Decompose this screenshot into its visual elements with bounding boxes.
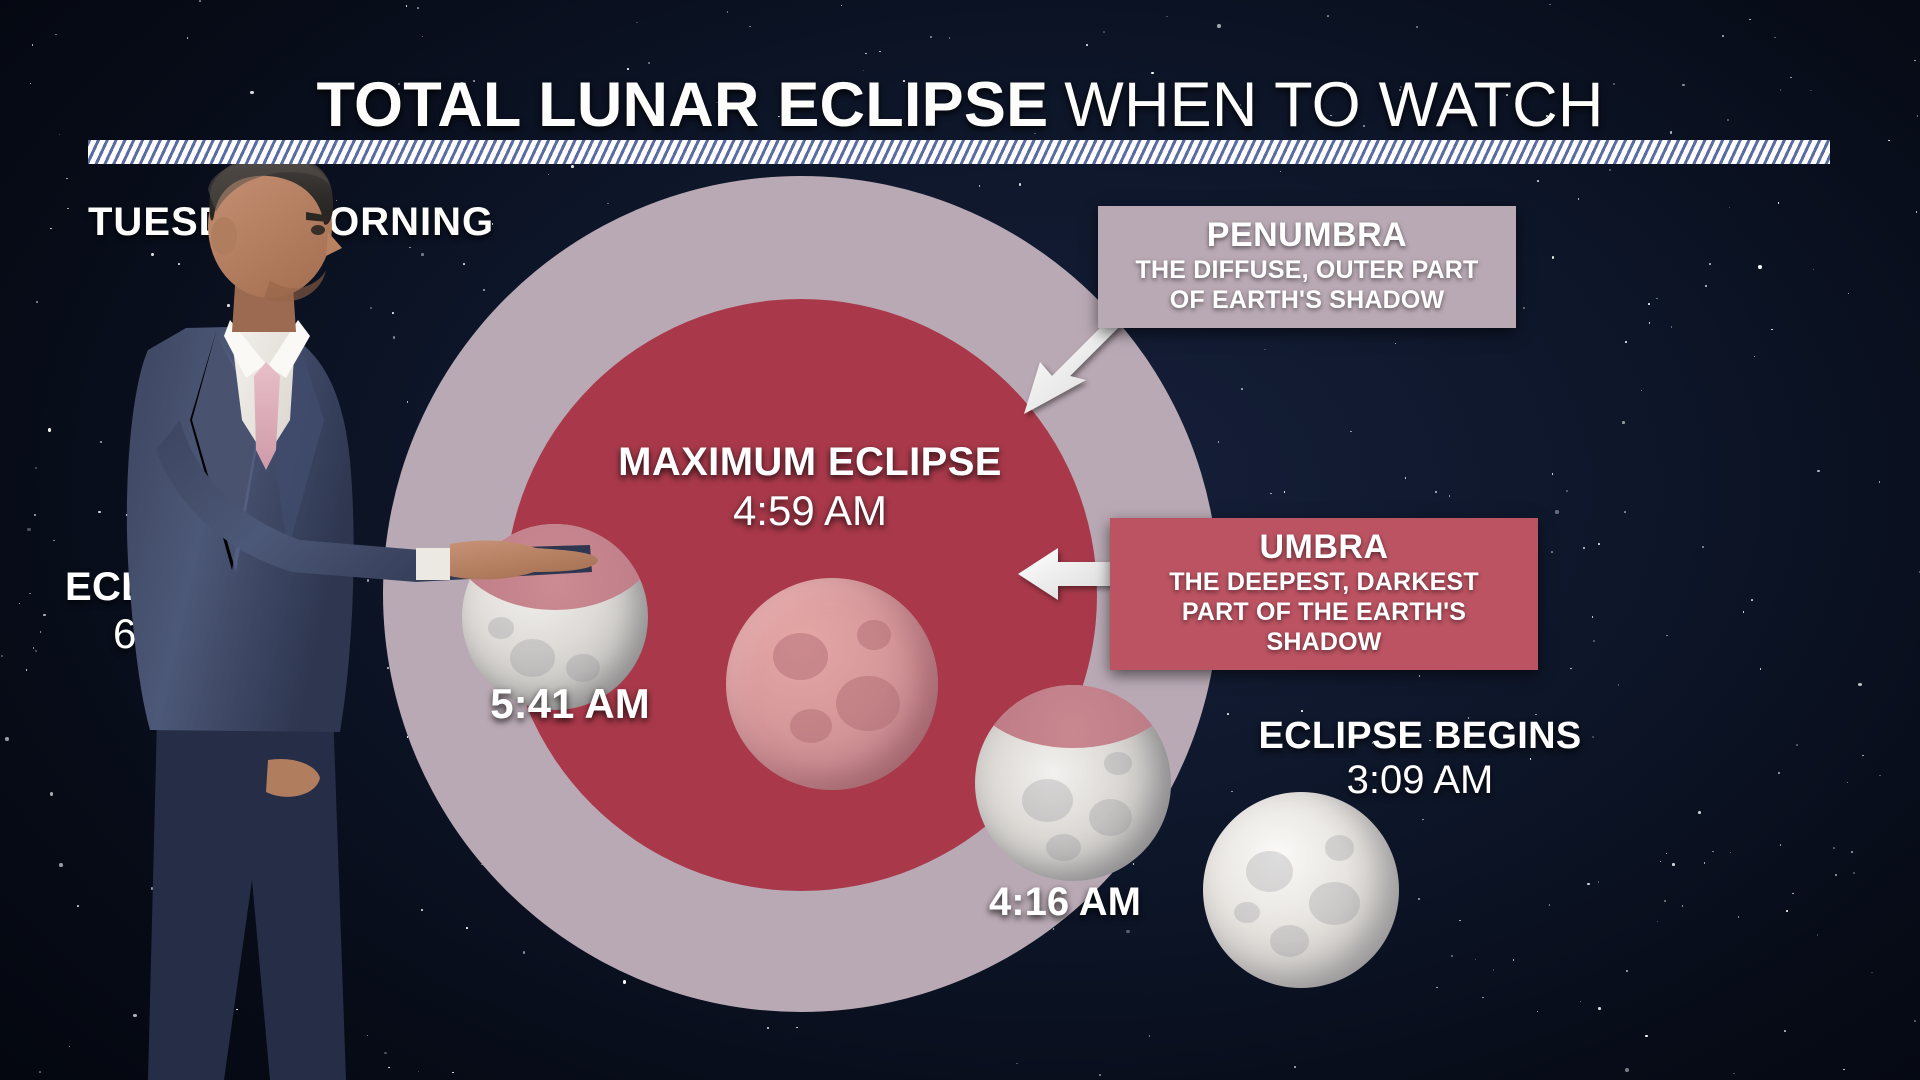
stage-416-time: 4:16 AM: [960, 880, 1170, 925]
star: [1749, 19, 1751, 21]
star: [98, 511, 101, 514]
star: [1566, 490, 1568, 492]
star: [1656, 298, 1658, 300]
star: [1016, 1063, 1018, 1065]
eclipse-begins-time: 3:09 AM: [1230, 758, 1610, 803]
moon-maximum-eclipse: [726, 578, 938, 790]
star: [1583, 547, 1585, 549]
star: [50, 228, 52, 230]
star: [1774, 37, 1776, 39]
star: [1578, 198, 1580, 200]
maximum-eclipse-text: MAXIMUM ECLIPSE: [560, 440, 1060, 485]
star: [1449, 495, 1451, 497]
star: [40, 631, 42, 633]
star: [39, 1071, 41, 1073]
star: [1103, 31, 1105, 33]
star: [1660, 861, 1662, 863]
star: [69, 1046, 71, 1048]
star: [26, 669, 28, 671]
star: [1666, 853, 1668, 855]
star: [1754, 356, 1756, 358]
title-bold-text: TOTAL LUNAR ECLIPSE: [316, 74, 1048, 137]
star: [1847, 782, 1849, 784]
star: [422, 36, 424, 38]
star: [1419, 675, 1421, 677]
star: [1848, 293, 1850, 295]
star: [1327, 15, 1329, 17]
moon-eclipse-begins: [1203, 792, 1399, 988]
star: [1395, 343, 1397, 345]
star: [199, 0, 201, 2]
star: [66, 178, 68, 180]
star: [1625, 1068, 1629, 1072]
star: [1551, 551, 1553, 553]
star: [1405, 477, 1407, 479]
star: [1729, 207, 1731, 209]
star: [48, 428, 52, 432]
star: [1549, 4, 1551, 6]
star: [1780, 844, 1782, 846]
star: [1879, 775, 1881, 777]
star: [1493, 969, 1495, 971]
star: [34, 514, 36, 516]
star: [35, 467, 37, 469]
broadcast-graphic: PENUMBRA THE DIFFUSE, OUTER PART OF EART…: [0, 0, 1920, 1080]
maximum-eclipse-label: MAXIMUM ECLIPSE 4:59 AM: [560, 440, 1060, 535]
star: [43, 614, 46, 617]
umbra-callout-box: UMBRA THE DEEPEST, DARKEST PART OF THE E…: [1110, 518, 1538, 670]
star: [1099, 1074, 1101, 1076]
star: [1751, 599, 1753, 601]
title-light-text: WHEN TO WATCH: [1064, 74, 1603, 137]
star: [59, 863, 63, 867]
star: [749, 26, 751, 28]
star: [636, 22, 638, 24]
star: [27, 528, 31, 532]
star: [1914, 60, 1916, 62]
star: [1722, 35, 1724, 37]
star: [1771, 329, 1773, 331]
star: [1733, 1073, 1735, 1075]
star: [1618, 684, 1620, 686]
star: [1436, 987, 1438, 989]
star: [77, 905, 79, 907]
star: [35, 650, 38, 653]
penumbra-desc-line1: THE DIFFUSE, OUTER PART: [1116, 256, 1498, 284]
star: [55, 34, 57, 36]
star: [1786, 910, 1788, 912]
star: [1264, 349, 1266, 351]
star: [32, 44, 34, 46]
star: [1598, 881, 1600, 883]
star: [1916, 211, 1918, 213]
star: [1622, 421, 1625, 424]
star: [1813, 269, 1815, 271]
star: [1580, 1001, 1582, 1003]
star: [1817, 934, 1819, 936]
star: [1666, 635, 1668, 637]
star: [1, 655, 3, 657]
star: [1280, 171, 1282, 173]
star: [1126, 930, 1130, 934]
star: [1709, 263, 1711, 265]
star: [1914, 1020, 1916, 1022]
star: [1778, 202, 1780, 204]
star: [1671, 326, 1673, 328]
star: [1350, 431, 1352, 433]
star: [1552, 473, 1554, 475]
star: [1086, 44, 1088, 46]
star: [796, 1027, 798, 1029]
star: [1778, 772, 1780, 774]
star: [1422, 819, 1424, 821]
star: [1294, 1066, 1296, 1068]
eclipse-begins-text: ECLIPSE BEGINS: [1230, 715, 1610, 758]
star: [1796, 744, 1798, 746]
star: [979, 185, 981, 187]
star: [1657, 921, 1659, 923]
star: [1416, 26, 1418, 28]
star: [1626, 970, 1628, 972]
star: [406, 5, 408, 7]
star: [100, 441, 102, 443]
star: [1570, 668, 1572, 670]
star: [1593, 640, 1596, 643]
star: [1241, 388, 1243, 390]
star: [1648, 303, 1650, 305]
star: [1218, 441, 1220, 443]
star: [1624, 511, 1626, 513]
star: [1537, 180, 1539, 182]
star: [1858, 683, 1862, 687]
star: [727, 11, 729, 13]
moon-stage-416: [975, 685, 1171, 881]
star: [1712, 851, 1714, 853]
star: [1513, 959, 1515, 961]
star: [29, 593, 31, 595]
star: [1833, 847, 1835, 849]
star: [648, 62, 650, 64]
star: [841, 5, 843, 7]
star: [1738, 916, 1740, 918]
star: [1217, 24, 1221, 28]
star: [19, 603, 21, 605]
umbra-heading: UMBRA: [1128, 530, 1520, 566]
star: [865, 53, 867, 55]
star: [1702, 546, 1704, 548]
star: [1664, 900, 1666, 902]
umbra-desc-line2: PART OF THE EARTH'S: [1128, 598, 1520, 626]
star: [1817, 470, 1820, 473]
star: [1792, 893, 1794, 895]
star: [1672, 863, 1675, 866]
umbra-arrow: [1012, 540, 1122, 610]
star: [1227, 713, 1229, 715]
star: [1133, 863, 1135, 865]
star: [1301, 710, 1303, 712]
star: [1552, 256, 1555, 259]
star: [1459, 920, 1461, 922]
star: [187, 37, 189, 39]
star: [1682, 905, 1684, 907]
umbra-desc-line1: THE DEEPEST, DARKEST: [1128, 568, 1520, 596]
star: [1609, 169, 1611, 171]
star: [1451, 955, 1453, 957]
umbra-desc-line3: SHADOW: [1128, 628, 1520, 656]
star: [949, 37, 951, 39]
star: [767, 1027, 769, 1029]
star: [1784, 1030, 1786, 1032]
star: [1704, 862, 1706, 864]
star: [1625, 341, 1627, 343]
penumbra-callout-box: PENUMBRA THE DIFFUSE, OUTER PART OF EART…: [1098, 206, 1516, 328]
star: [1853, 872, 1855, 874]
star: [1598, 543, 1600, 545]
penumbra-heading: PENUMBRA: [1116, 218, 1498, 254]
star: [1730, 852, 1732, 854]
star: [1851, 851, 1853, 853]
presenter-meteorologist: [120, 120, 620, 1080]
star: [417, 7, 419, 9]
maximum-eclipse-time: 4:59 AM: [560, 487, 1060, 535]
star: [36, 301, 38, 303]
penumbra-arrow: [1000, 318, 1130, 428]
star: [1482, 997, 1484, 999]
star: [1555, 510, 1559, 514]
star: [1475, 959, 1477, 961]
star: [930, 36, 933, 39]
star: [5, 737, 9, 741]
eclipse-begins-label: ECLIPSE BEGINS 3:09 AM: [1230, 715, 1610, 803]
title-stripe-divider: [88, 140, 1830, 164]
star: [1149, 1035, 1151, 1037]
star: [1871, 972, 1873, 974]
star: [33, 647, 35, 649]
star: [1587, 883, 1590, 886]
star: [1284, 491, 1286, 493]
star: [1758, 265, 1762, 269]
star: [623, 980, 627, 984]
star: [1843, 1069, 1845, 1071]
star: [1418, 898, 1420, 900]
star: [1435, 491, 1437, 493]
star: [1862, 755, 1864, 757]
star: [1649, 322, 1651, 324]
star: [1835, 874, 1837, 876]
star: [1705, 285, 1707, 287]
star: [1645, 1035, 1648, 1038]
star: [1743, 611, 1745, 613]
star: [1549, 904, 1551, 906]
star: [1592, 616, 1594, 618]
star: [1053, 928, 1055, 930]
star: [1270, 493, 1272, 495]
star: [1523, 307, 1525, 309]
broadcast-title: TOTAL LUNAR ECLIPSEWHEN TO WATCH: [0, 74, 1920, 137]
star: [1879, 481, 1881, 483]
star: [53, 540, 55, 542]
star: [1641, 390, 1643, 392]
star: [1166, 16, 1168, 18]
star: [1598, 1007, 1601, 1010]
star: [1760, 668, 1762, 670]
star: [879, 51, 881, 53]
star: [1537, 1011, 1539, 1013]
star: [1019, 183, 1022, 186]
star: [50, 792, 54, 796]
penumbra-desc-line2: OF EARTH'S SHADOW: [1116, 286, 1498, 314]
star: [67, 208, 69, 210]
star: [1698, 811, 1701, 814]
star: [1888, 140, 1890, 142]
